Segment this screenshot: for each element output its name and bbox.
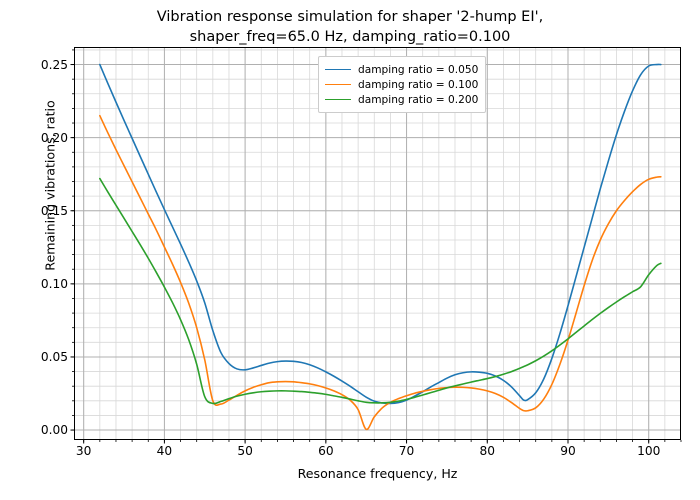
- legend-item: damping ratio = 0.200: [325, 92, 478, 107]
- x-tick-label: 50: [237, 444, 253, 458]
- y-tick-label: 0.00: [14, 423, 68, 437]
- chart-title: Vibration response simulation for shaper…: [0, 8, 700, 47]
- legend-line-swatch-icon: [325, 99, 351, 100]
- x-tick-label: 80: [480, 444, 496, 458]
- chart-figure: Vibration response simulation for shaper…: [0, 0, 700, 500]
- y-tick-label: 0.15: [14, 204, 68, 218]
- legend-label: damping ratio = 0.100: [358, 79, 478, 91]
- legend-item: damping ratio = 0.050: [325, 62, 478, 77]
- x-tick-label: 40: [157, 444, 173, 458]
- legend-label: damping ratio = 0.200: [358, 94, 478, 106]
- y-tick-label: 0.25: [14, 58, 68, 72]
- y-tick-label: 0.10: [14, 277, 68, 291]
- x-tick-label: 90: [560, 444, 576, 458]
- y-tick-label: 0.20: [14, 131, 68, 145]
- legend-label: damping ratio = 0.050: [358, 64, 478, 76]
- x-axis-label: Resonance frequency, Hz: [74, 466, 681, 481]
- x-tick-label: 60: [318, 444, 334, 458]
- x-tick-label: 30: [76, 444, 92, 458]
- x-tick-label: 70: [399, 444, 415, 458]
- y-tick-label: 0.05: [14, 350, 68, 364]
- chart-legend: damping ratio = 0.050damping ratio = 0.1…: [318, 56, 486, 113]
- legend-line-swatch-icon: [325, 69, 351, 70]
- series-line-1: [100, 64, 661, 403]
- legend-line-swatch-icon: [325, 84, 351, 85]
- x-tick-label: 100: [637, 444, 660, 458]
- legend-item: damping ratio = 0.100: [325, 77, 478, 92]
